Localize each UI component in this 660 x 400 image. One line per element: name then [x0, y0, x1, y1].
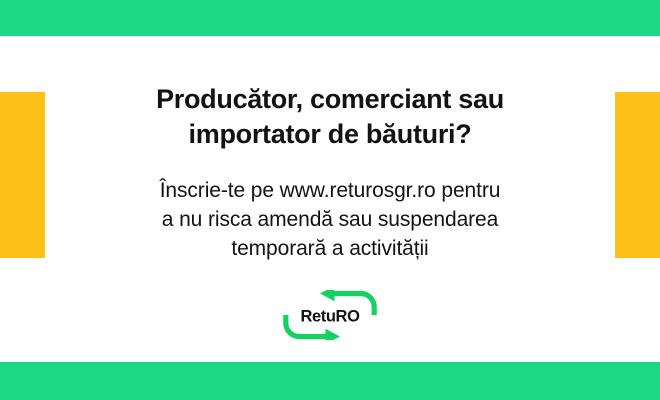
subcopy-line-2: a nu risca amendă sau suspendarea [105, 206, 555, 235]
arrow-left-head-icon [320, 290, 335, 301]
recycling-loop-icon: RetuRO [282, 290, 378, 340]
promo-banner: Producător, comerciant sau importator de… [0, 0, 660, 400]
right-yellow-bar [615, 92, 660, 258]
bottom-green-band [0, 362, 660, 400]
logo-wordmark: RetuRO [300, 308, 360, 326]
banner-content: Producător, comerciant sau importator de… [60, 36, 600, 362]
arrow-right-head-icon [326, 329, 341, 340]
top-green-band [0, 0, 660, 36]
left-yellow-bar [0, 92, 45, 258]
headline-line-1: Producător, comerciant sau [110, 82, 550, 117]
headline-line-2: importator de băuturi? [110, 117, 550, 152]
subcopy-line-1: Înscrie-te pe www.returosgr.ro pentru [105, 177, 555, 206]
returo-logo: RetuRO [282, 290, 378, 340]
subcopy: Înscrie-te pe www.returosgr.ro pentru a … [105, 152, 555, 264]
headline: Producător, comerciant sau importator de… [110, 36, 550, 152]
subcopy-line-3: temporară a activității [105, 235, 555, 264]
